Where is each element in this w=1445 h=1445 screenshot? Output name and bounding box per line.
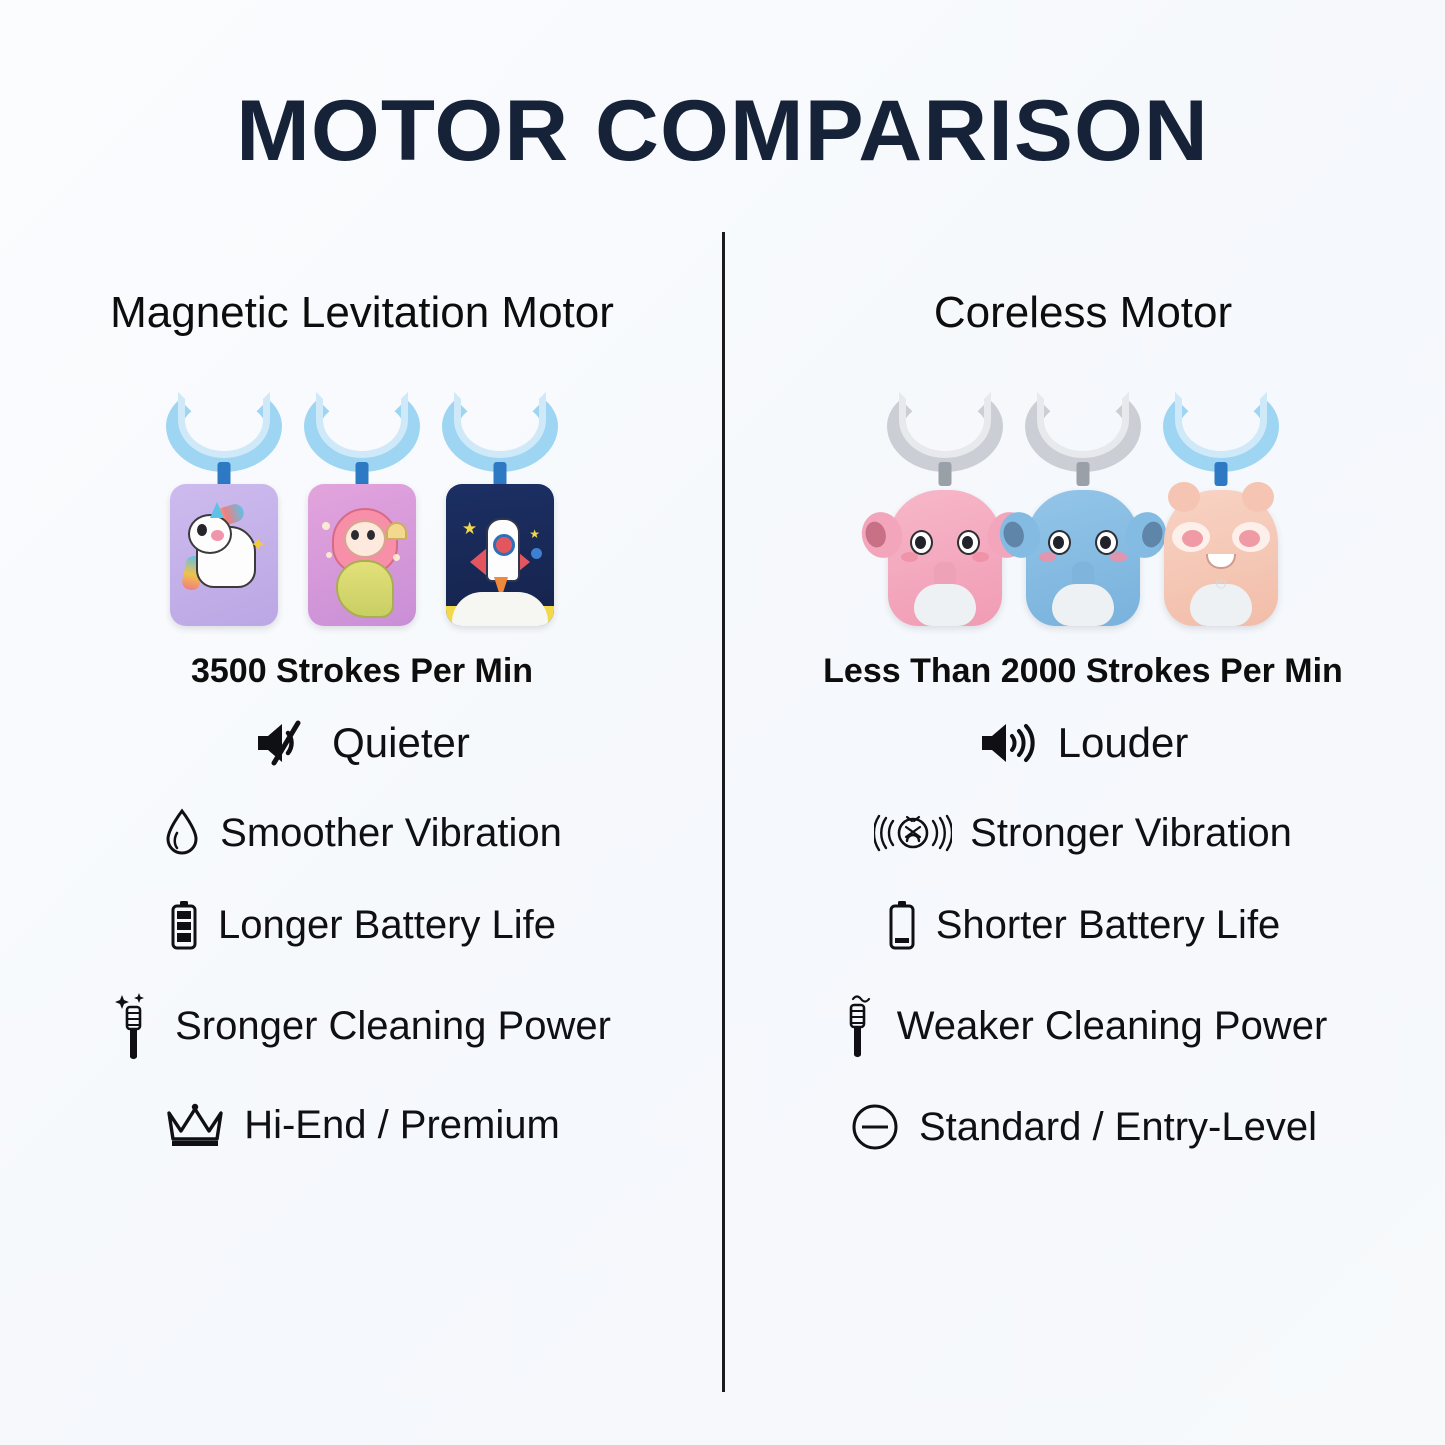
toothbrush-sparkle-icon xyxy=(113,991,157,1061)
u-brush-head-icon xyxy=(1163,386,1279,472)
minus-circle-icon xyxy=(849,1101,901,1153)
battery-low-icon xyxy=(886,899,918,951)
power-button-icon: ⏻ xyxy=(1213,575,1230,592)
device-body-pink-panda: ⏻ xyxy=(1164,490,1278,626)
column-divider xyxy=(722,232,725,1392)
feature-label: Hi-End / Premium xyxy=(244,1103,560,1148)
column-heading-right: Coreless Motor xyxy=(733,280,1433,346)
speaker-mute-icon xyxy=(254,719,314,767)
column-coreless: Coreless Motor xyxy=(733,280,1433,1153)
column-heading-left: Magnetic Levitation Motor xyxy=(12,280,712,346)
feature-row-longer-battery: Longer Battery Life xyxy=(12,899,712,951)
feature-row-weaker-cleaning: Weaker Cleaning Power xyxy=(733,991,1433,1061)
feature-row-louder: Louder xyxy=(733,719,1433,767)
mermaid-artwork xyxy=(308,484,416,626)
u-brush-head-icon xyxy=(304,386,420,472)
mermaid-toothbrush xyxy=(297,386,427,626)
infographic-page: MOTOR COMPARISON Magnetic Levitation Mot… xyxy=(0,0,1445,1445)
device-body-rocket: ★ ★ xyxy=(446,484,554,626)
water-drop-icon xyxy=(162,807,202,859)
feature-row-premium: Hi-End / Premium xyxy=(12,1101,712,1149)
feature-row-shorter-battery: Shorter Battery Life xyxy=(733,899,1433,951)
feature-label: Sronger Cleaning Power xyxy=(175,1004,611,1049)
feature-row-standard: Standard / Entry-Level xyxy=(733,1101,1433,1153)
battery-full-icon xyxy=(168,899,200,951)
feature-label: Shorter Battery Life xyxy=(936,903,1281,948)
blue-elephant-toothbrush xyxy=(1018,386,1148,626)
feature-label: Smoother Vibration xyxy=(220,811,562,856)
device-body-pink-elephant xyxy=(888,490,1002,626)
speaker-loud-icon xyxy=(978,719,1040,767)
feature-label: Stronger Vibration xyxy=(970,811,1292,856)
pink-elephant-toothbrush xyxy=(880,386,1010,626)
device-body-unicorn: ✦ xyxy=(170,484,278,626)
unicorn-artwork: ✦ xyxy=(170,484,278,626)
feature-row-stronger-vibration: Stronger Vibration xyxy=(733,807,1433,859)
feature-label: Quieter xyxy=(332,719,470,767)
product-images-right: ⏻ xyxy=(733,376,1433,626)
feature-row-stronger-cleaning: Sronger Cleaning Power xyxy=(12,991,712,1061)
page-title: MOTOR COMPARISON xyxy=(0,88,1445,174)
toothbrush-icon xyxy=(839,991,879,1061)
feature-label: Louder xyxy=(1058,719,1189,767)
device-body-mermaid xyxy=(308,484,416,626)
u-brush-head-icon xyxy=(887,386,1003,472)
u-brush-head-icon xyxy=(166,386,282,472)
shaking-face-icon xyxy=(874,807,952,859)
rocket-artwork: ★ ★ xyxy=(446,484,554,626)
feature-label: Longer Battery Life xyxy=(218,903,556,948)
strokes-per-min-right: Less Than 2000 Strokes Per Min xyxy=(733,652,1433,691)
u-brush-head-icon xyxy=(442,386,558,472)
crown-icon xyxy=(164,1101,226,1149)
product-images-left: ✦ xyxy=(12,376,712,626)
unicorn-toothbrush: ✦ xyxy=(159,386,289,626)
feature-row-smoother-vibration: Smoother Vibration xyxy=(12,807,712,859)
u-brush-head-icon xyxy=(1025,386,1141,472)
strokes-per-min-left: 3500 Strokes Per Min xyxy=(12,652,712,691)
column-magnetic-levitation: Magnetic Levitation Motor ✦ xyxy=(12,280,712,1149)
device-body-blue-elephant xyxy=(1026,490,1140,626)
feature-row-quieter: Quieter xyxy=(12,719,712,767)
feature-label: Standard / Entry-Level xyxy=(919,1105,1317,1150)
pink-panda-toothbrush: ⏻ xyxy=(1156,386,1286,626)
rocket-toothbrush: ★ ★ xyxy=(435,386,565,626)
feature-label: Weaker Cleaning Power xyxy=(897,1004,1328,1049)
